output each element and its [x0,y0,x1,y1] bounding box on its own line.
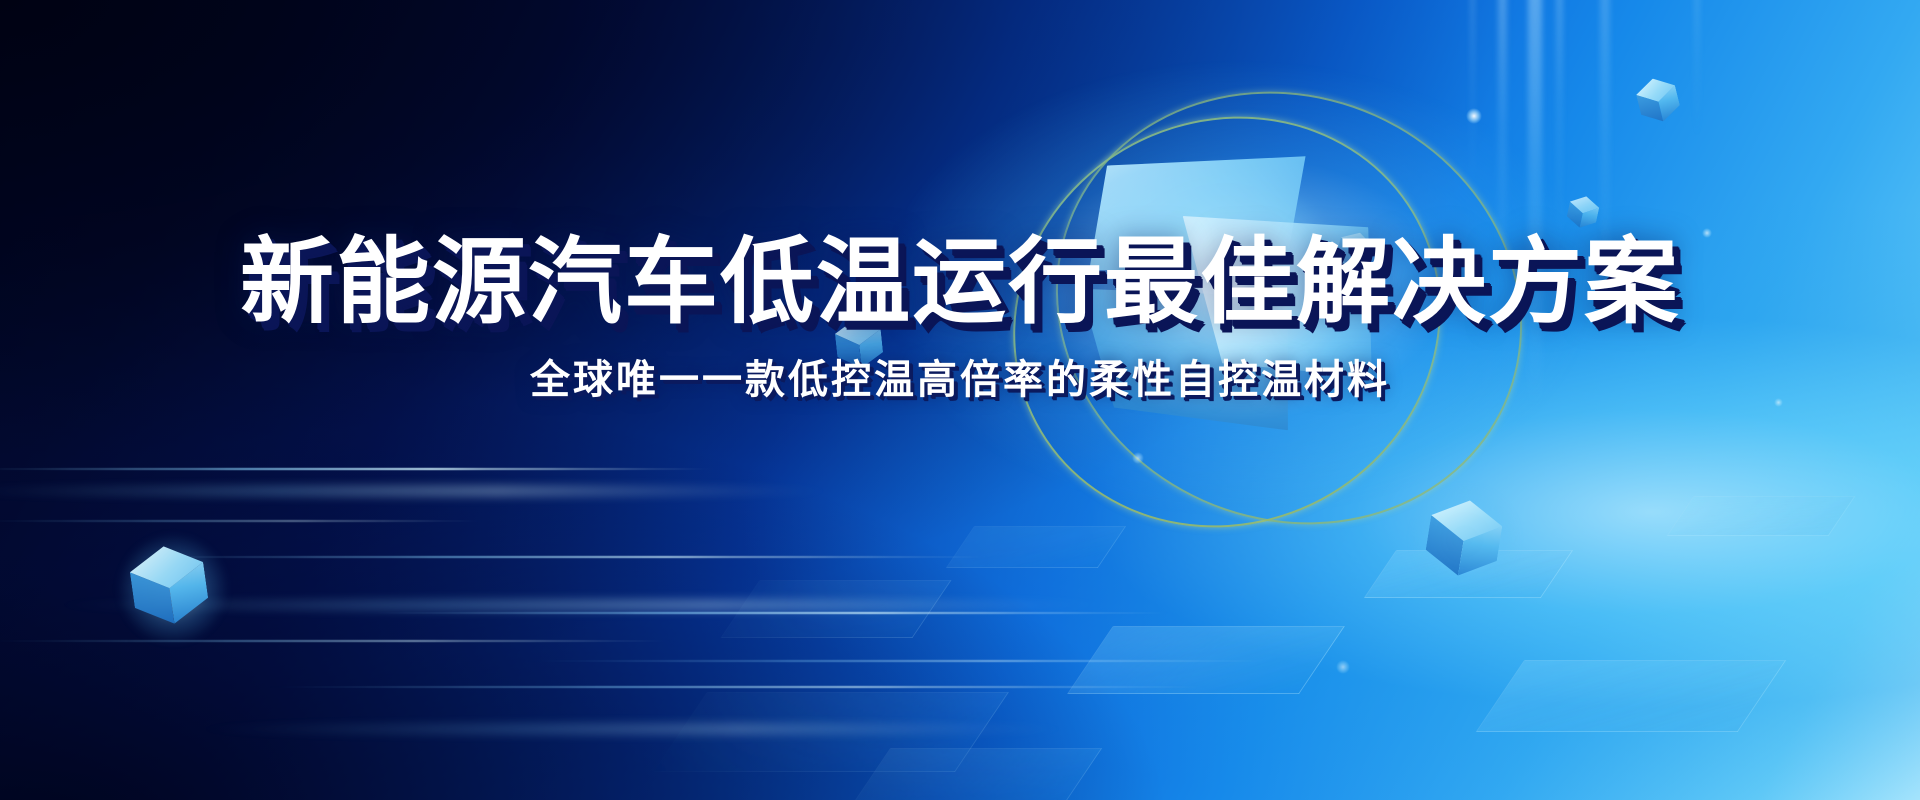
banner-subtitle: 全球唯一一款低控温高倍率的柔性自控温材料 [530,360,1390,400]
banner-text: 新能源汽车低温运行最佳解决方案 全球唯一一款低控温高倍率的柔性自控温材料 [0,0,1920,800]
banner-title: 新能源汽车低温运行最佳解决方案 [240,236,1680,330]
banner-stage: 新能源汽车低温运行最佳解决方案 全球唯一一款低控温高倍率的柔性自控温材料 [0,0,1920,800]
